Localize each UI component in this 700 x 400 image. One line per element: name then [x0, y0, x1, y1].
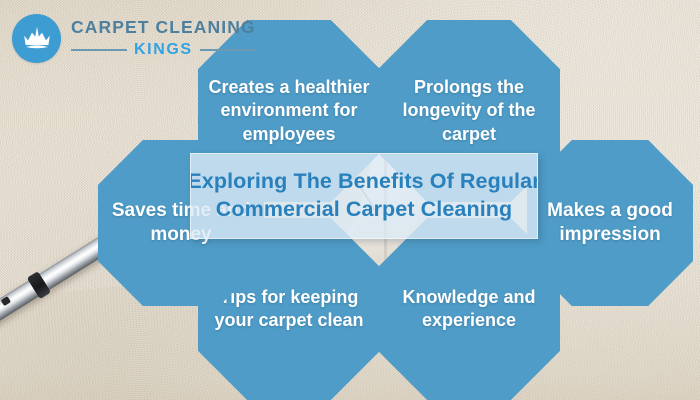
brand-rule-right	[200, 49, 256, 51]
cleaning-wand-nub	[1, 296, 11, 306]
title-line-2: Commercial Carpet Cleaning	[190, 196, 538, 224]
brand-wordmark: CARPET CLEANING KINGS	[71, 19, 256, 58]
benefit-label: Knowledge and experience	[378, 286, 560, 332]
benefit-label: Prolongs the longevity of the carpet	[378, 76, 560, 145]
title-line-1: Exploring The Benefits Of Regular	[190, 169, 538, 193]
infographic-canvas: Creates a healthier environment for empl…	[0, 0, 700, 400]
brand-rule-left	[71, 49, 127, 51]
page-title: Exploring The Benefits Of Regular Commer…	[190, 168, 538, 223]
benefit-label: Makes a good impression	[527, 199, 693, 248]
brand-name-bottom: KINGS	[134, 42, 193, 58]
title-banner: Exploring The Benefits Of Regular Commer…	[190, 153, 538, 239]
crown-icon	[12, 14, 61, 63]
brand-name-top: CARPET CLEANING	[71, 19, 256, 37]
brand-logo[interactable]: CARPET CLEANING KINGS	[12, 14, 256, 63]
benefit-label: Creates a healthier environment for empl…	[198, 76, 380, 145]
brand-kings-row: KINGS	[71, 42, 256, 58]
benefit-cell-good-impression[interactable]: Makes a good impression	[527, 140, 693, 306]
